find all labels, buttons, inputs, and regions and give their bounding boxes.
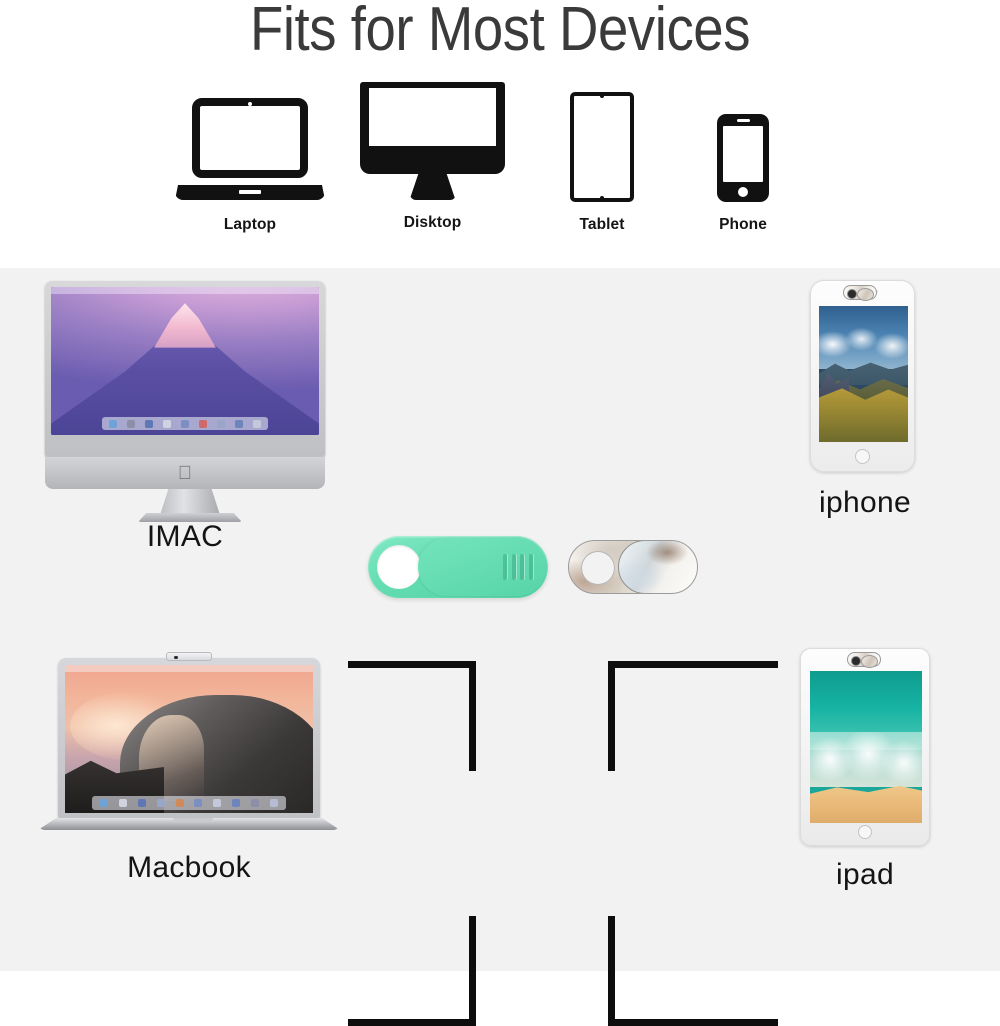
slider-plate[interactable] bbox=[418, 538, 546, 596]
webcam-cover-green[interactable] bbox=[368, 536, 548, 598]
device-iphone bbox=[810, 280, 920, 480]
device-imac:  bbox=[45, 281, 335, 511]
iphone-webcam-cover bbox=[843, 285, 877, 300]
page-title: Fits for Most Devices bbox=[60, 0, 940, 62]
compat-label-laptop: Laptop bbox=[175, 216, 325, 234]
grip-ridges-icon bbox=[503, 554, 533, 580]
imac-chin:  bbox=[45, 457, 325, 489]
compat-label-desktop: Disktop bbox=[360, 214, 505, 232]
macbook-screen bbox=[65, 665, 313, 813]
connector-iphone bbox=[608, 661, 778, 771]
macbook-dock bbox=[92, 796, 285, 810]
ipad-webcam-cover bbox=[847, 652, 881, 667]
connector-ipad bbox=[608, 916, 778, 1026]
device-label-macbook: Macbook bbox=[38, 851, 340, 885]
connector-macbook bbox=[348, 916, 476, 1026]
imac-screen bbox=[51, 287, 319, 435]
macbook-lid bbox=[58, 658, 320, 818]
imac-bezel bbox=[45, 281, 325, 457]
iphone-home-button bbox=[855, 449, 870, 464]
connector-imac bbox=[348, 661, 476, 771]
apple-logo-icon:  bbox=[178, 464, 192, 483]
product-infographic: Fits for Most Devices Laptop bbox=[0, 0, 1000, 971]
ipad-screen bbox=[810, 671, 922, 823]
compat-item-desktop: Disktop bbox=[360, 82, 505, 232]
lens-opening bbox=[581, 551, 615, 585]
imac-dock bbox=[102, 417, 268, 430]
phone-icon bbox=[717, 84, 769, 202]
ipad-home-button bbox=[858, 825, 872, 839]
compat-label-phone: Phone bbox=[717, 216, 769, 234]
device-label-ipad: ipad bbox=[790, 858, 940, 892]
compat-item-laptop: Laptop bbox=[175, 84, 325, 234]
showcase-section:  IMAC bbox=[0, 268, 1000, 971]
laptop-icon bbox=[175, 84, 325, 202]
compat-item-phone: Phone bbox=[717, 84, 769, 234]
compatibility-section: Fits for Most Devices Laptop bbox=[0, 0, 1000, 268]
iphone-screen bbox=[819, 306, 908, 442]
ipad-body bbox=[800, 648, 930, 846]
macbook-webcam-cover bbox=[166, 652, 212, 661]
device-label-imac: IMAC bbox=[45, 520, 325, 554]
compat-label-tablet: Tablet bbox=[570, 216, 634, 234]
tablet-icon bbox=[570, 84, 634, 202]
device-ipad bbox=[800, 648, 935, 853]
iphone-body bbox=[810, 280, 915, 472]
desktop-icon bbox=[360, 82, 505, 200]
product-group bbox=[368, 528, 698, 608]
slider-plate[interactable] bbox=[618, 540, 698, 594]
device-macbook bbox=[38, 658, 348, 848]
device-label-iphone: iphone bbox=[790, 486, 940, 520]
webcam-cover-marble[interactable] bbox=[568, 540, 698, 594]
device-icon-row: Laptop Disktop bbox=[150, 84, 850, 254]
lens-opening bbox=[377, 545, 421, 589]
compat-item-tablet: Tablet bbox=[570, 84, 634, 234]
